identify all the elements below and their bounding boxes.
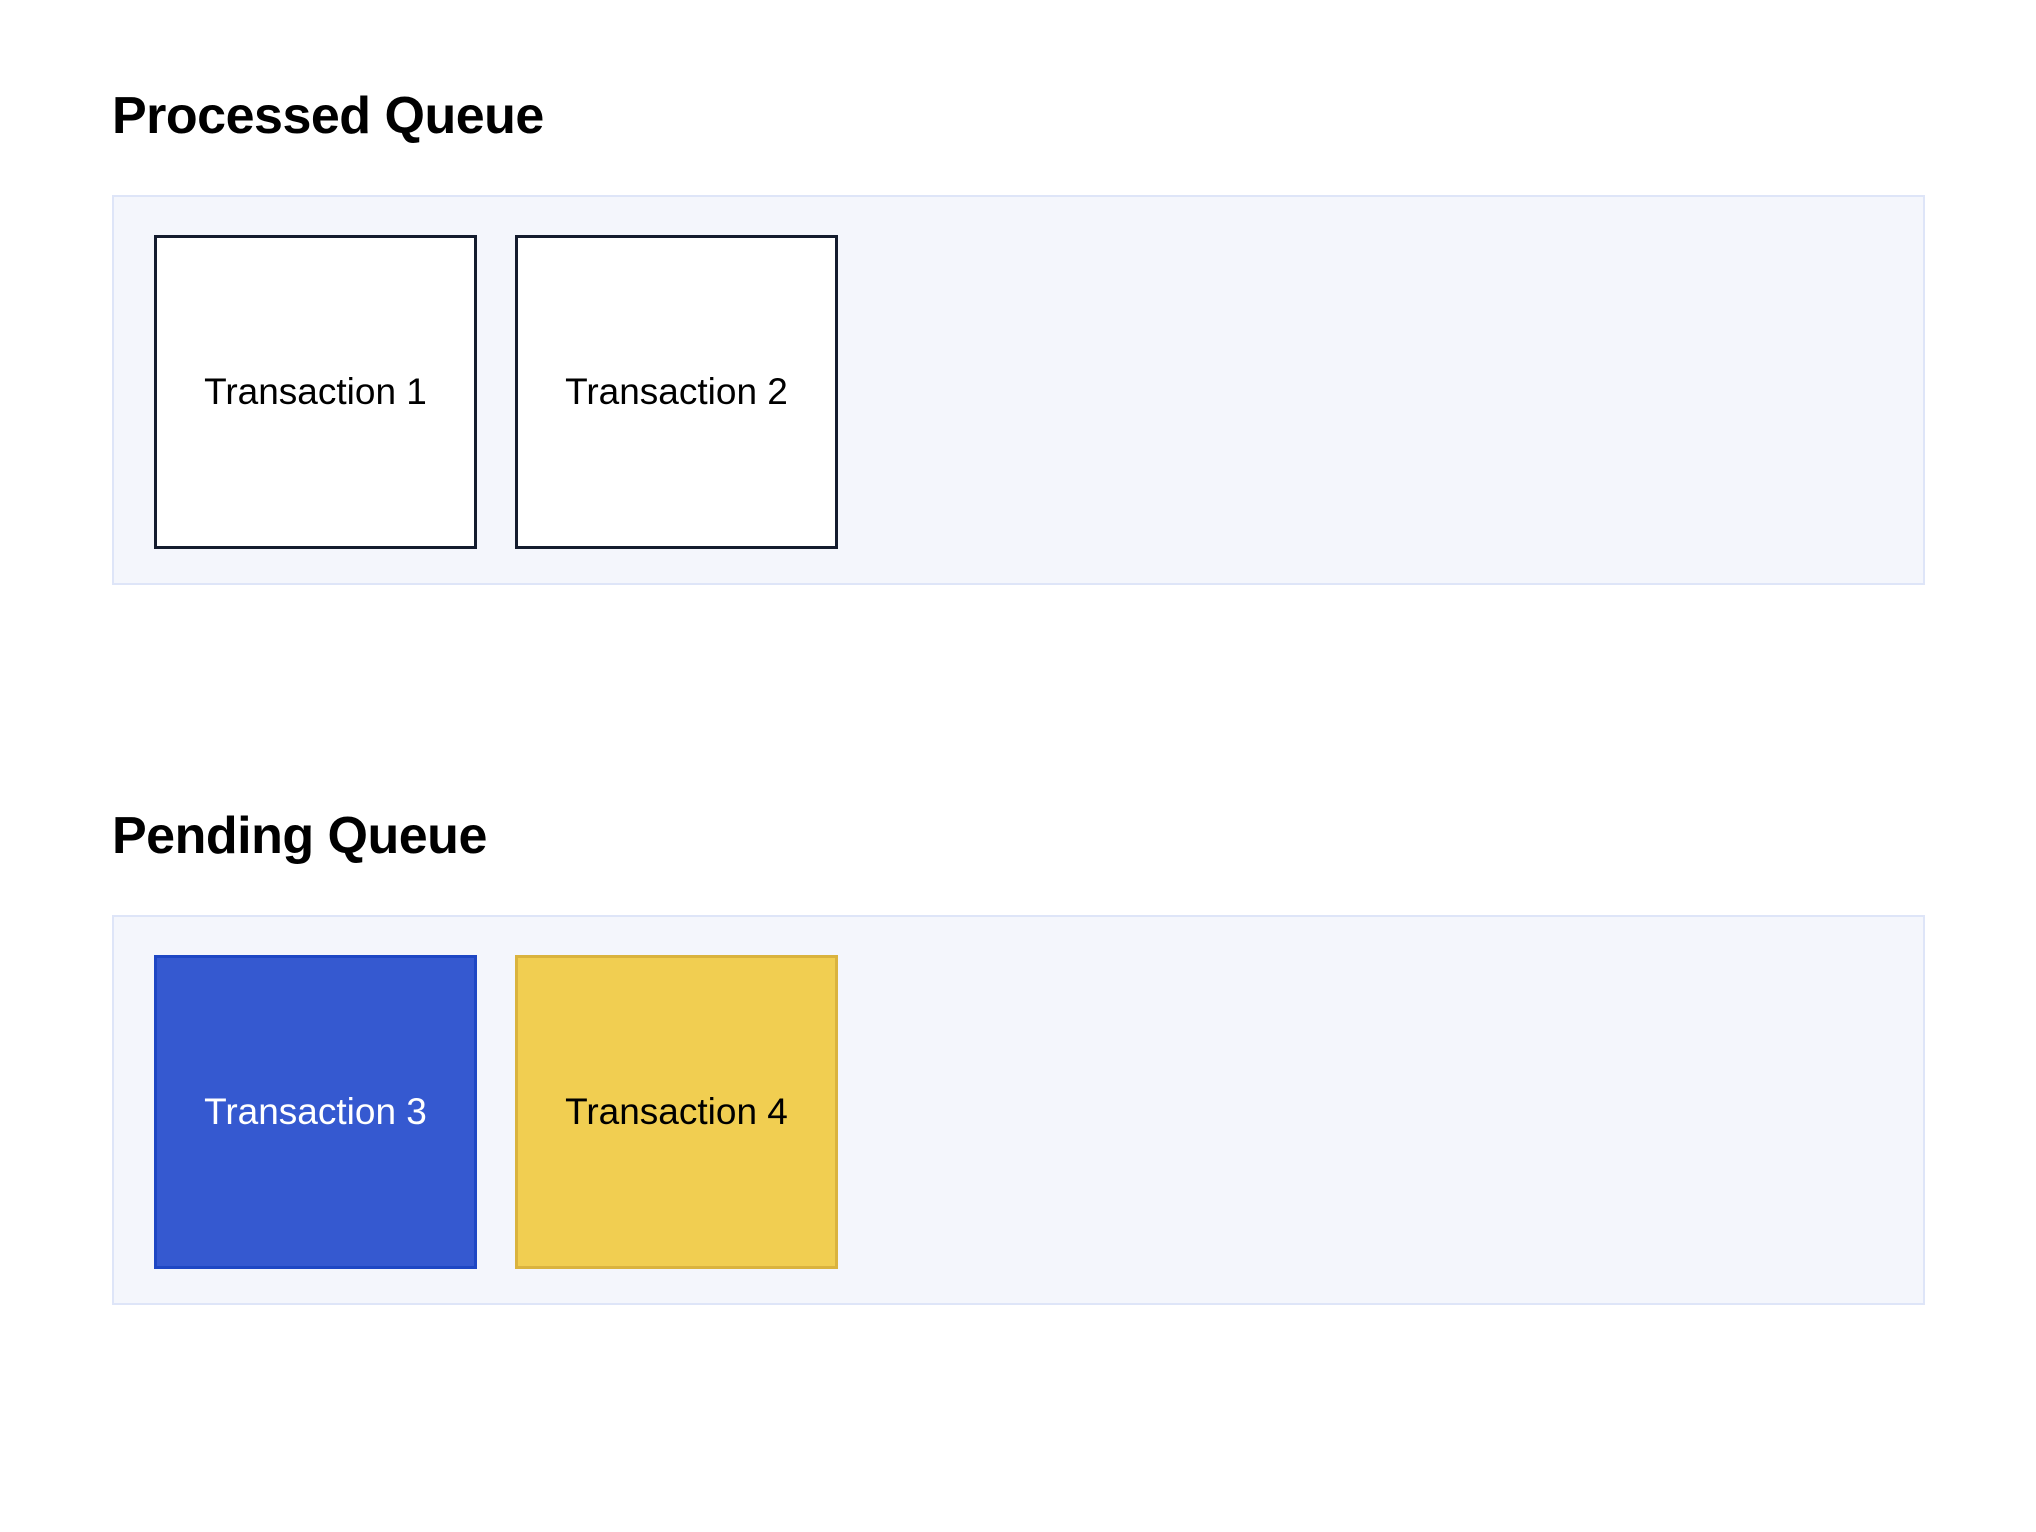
section-pending-queue: Pending Queue Transaction 3 Transaction … — [112, 808, 1925, 1305]
transaction-card-label: Transaction 3 — [204, 1090, 427, 1134]
page-title-processed-queue: Processed Queue — [112, 88, 1925, 145]
transaction-card-label: Transaction 1 — [204, 370, 427, 414]
page-title-pending-queue: Pending Queue — [112, 808, 1925, 865]
transaction-card-2[interactable]: Transaction 2 — [515, 235, 838, 549]
transaction-card-label: Transaction 2 — [565, 370, 788, 414]
queue-container-pending: Transaction 3 Transaction 4 — [112, 915, 1925, 1305]
queue-visualization-page: Processed Queue Transaction 1 Transactio… — [0, 0, 2036, 1532]
transaction-card-label: Transaction 4 — [565, 1090, 788, 1134]
section-processed-queue: Processed Queue Transaction 1 Transactio… — [112, 88, 1925, 585]
transaction-card-1[interactable]: Transaction 1 — [154, 235, 477, 549]
queue-container-processed: Transaction 1 Transaction 2 — [112, 195, 1925, 585]
transaction-card-3[interactable]: Transaction 3 — [154, 955, 477, 1269]
transaction-card-4[interactable]: Transaction 4 — [515, 955, 838, 1269]
